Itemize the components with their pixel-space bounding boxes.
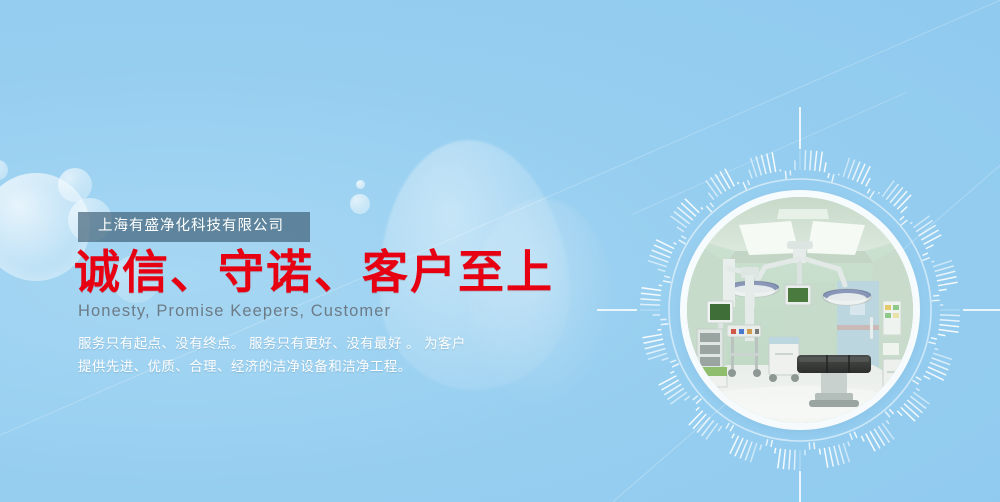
bubble-decoration <box>350 194 370 214</box>
operating-room-photo <box>687 197 913 423</box>
operating-room-illustration <box>687 197 913 423</box>
hero-headline: 诚信、守诺、客户至上 <box>74 248 598 298</box>
bubble-decoration <box>58 168 92 202</box>
bubble-decoration <box>356 180 365 189</box>
circular-photo-module <box>621 131 979 489</box>
body-copy-line-1: 服务只有起点、没有终点。 服务只有更好、没有最好 。 为客户 <box>78 332 598 355</box>
hero-copy-block: 上海有盛净化科技有限公司 诚信、守诺、客户至上 Honesty, Promise… <box>78 212 598 379</box>
company-name-badge: 上海有盛净化科技有限公司 <box>78 212 310 242</box>
body-copy-line-2: 提供先进、优质、合理、经济的洁净设备和洁净工程。 <box>78 355 598 378</box>
bubble-decoration <box>0 160 8 180</box>
hero-banner: 上海有盛净化科技有限公司 诚信、守诺、客户至上 Honesty, Promise… <box>0 0 1000 502</box>
hero-subheadline: Honesty, Promise Keepers, Customer <box>78 302 598 321</box>
hero-body-copy: 服务只有起点、没有终点。 服务只有更好、没有最好 。 为客户 提供先进、优质、合… <box>78 332 598 378</box>
